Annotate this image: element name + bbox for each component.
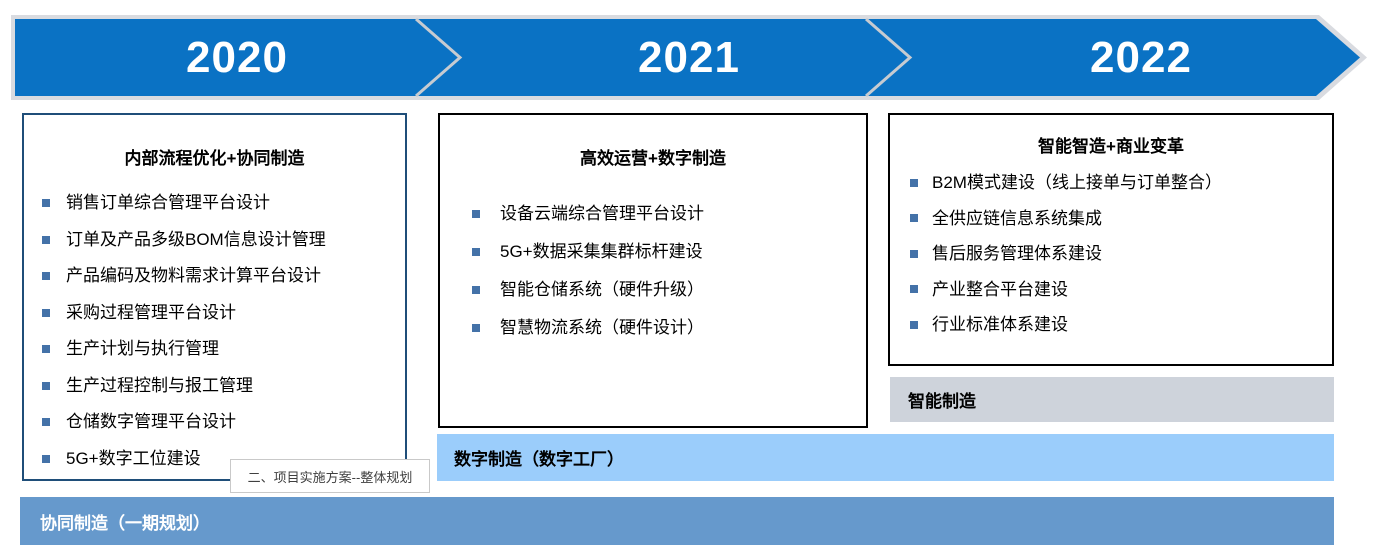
list-item-label: 设备云端综合管理平台设计 [500, 204, 704, 223]
bullet-square-icon [910, 285, 918, 293]
list-item-label: 全供应链信息系统集成 [932, 209, 1102, 228]
timeline-year-label: 2021 [638, 36, 740, 80]
phase-box-2022: 智能智造+商业变革 B2M模式建设（线上接单与订单整合） 全供应链信息系统集成 … [888, 113, 1334, 366]
list-item-label: 5G+数据采集集群标杆建设 [500, 242, 703, 261]
phase-item-list-2022: B2M模式建设（线上接单与订单整合） 全供应链信息系统集成 售后服务管理体系建设… [890, 165, 1332, 343]
bullet-square-icon [42, 418, 50, 426]
list-item: 产品编码及物料需求计算平台设计 [34, 258, 405, 295]
bullet-square-icon [42, 455, 50, 463]
timeline-segment-2020[interactable]: 2020 [11, 15, 463, 100]
band-label: 协同制造（一期规划） [40, 509, 210, 534]
timeline-banner: 2020 2021 2022 [11, 15, 1367, 100]
list-item-label: 5G+数字工位建设 [66, 449, 201, 468]
timeline-year-label: 2022 [1090, 36, 1192, 80]
list-item: B2M模式建设（线上接单与订单整合） [900, 165, 1332, 201]
list-item-label: 生产过程控制与报工管理 [66, 376, 253, 395]
list-item: 生产计划与执行管理 [34, 331, 405, 368]
list-item-label: B2M模式建设（线上接单与订单整合） [932, 173, 1222, 192]
phase-box-2021: 高效运营+数字制造 设备云端综合管理平台设计 5G+数据采集集群标杆建设 智能仓… [438, 113, 868, 428]
phase-item-list-2021: 设备云端综合管理平台设计 5G+数据采集集群标杆建设 智能仓储系统（硬件升级） … [440, 195, 866, 347]
band-intelligent-manufacturing: 智能制造 [890, 377, 1334, 422]
list-item: 行业标准体系建设 [900, 307, 1332, 343]
bullet-square-icon [472, 210, 480, 218]
list-item: 销售订单综合管理平台设计 [34, 185, 405, 222]
timeline-segment-2021[interactable]: 2021 [463, 15, 915, 100]
list-item-label: 产品编码及物料需求计算平台设计 [66, 266, 321, 285]
list-item: 产业整合平台建设 [900, 272, 1332, 308]
bullet-square-icon [42, 199, 50, 207]
list-item: 售后服务管理体系建设 [900, 236, 1332, 272]
timeline-year-label: 2020 [186, 36, 288, 80]
bullet-square-icon [42, 309, 50, 317]
phase-title-2021: 高效运营+数字制造 [440, 144, 866, 169]
list-item: 仓储数字管理平台设计 [34, 404, 405, 441]
list-item: 全供应链信息系统集成 [900, 201, 1332, 237]
bullet-square-icon [42, 272, 50, 280]
bullet-square-icon [42, 382, 50, 390]
list-item: 生产过程控制与报工管理 [34, 368, 405, 405]
list-item-label: 采购过程管理平台设计 [66, 303, 236, 322]
bullet-square-icon [472, 324, 480, 332]
bullet-square-icon [42, 345, 50, 353]
bullet-square-icon [910, 214, 918, 222]
list-item-label: 智慧物流系统（硬件设计） [500, 318, 704, 337]
phase-box-2020: 内部流程优化+协同制造 销售订单综合管理平台设计 订单及产品多级BOM信息设计管… [22, 113, 407, 481]
band-digital-manufacturing: 数字制造（数字工厂） [437, 434, 1334, 481]
list-item: 采购过程管理平台设计 [34, 295, 405, 332]
bullet-square-icon [910, 250, 918, 258]
list-item-label: 智能仓储系统（硬件升级） [500, 280, 704, 299]
list-item-label: 生产计划与执行管理 [66, 339, 219, 358]
phase-item-list-2020: 销售订单综合管理平台设计 订单及产品多级BOM信息设计管理 产品编码及物料需求计… [24, 185, 405, 477]
slide-caption-tooltip: 二、项目实施方案--整体规划 [230, 459, 430, 493]
timeline-segment-2022[interactable]: 2022 [915, 15, 1367, 100]
bullet-square-icon [42, 236, 50, 244]
list-item-label: 行业标准体系建设 [932, 315, 1068, 334]
bullet-square-icon [472, 286, 480, 294]
list-item: 订单及产品多级BOM信息设计管理 [34, 222, 405, 259]
slide-caption-text: 二、项目实施方案--整体规划 [248, 467, 413, 486]
list-item-label: 订单及产品多级BOM信息设计管理 [66, 230, 326, 249]
list-item: 设备云端综合管理平台设计 [468, 195, 866, 233]
band-label: 智能制造 [908, 387, 976, 412]
bullet-square-icon [472, 248, 480, 256]
list-item: 智能仓储系统（硬件升级） [468, 271, 866, 309]
list-item-label: 销售订单综合管理平台设计 [66, 193, 270, 212]
phase-title-2022: 智能智造+商业变革 [890, 132, 1332, 157]
phase-title-2020: 内部流程优化+协同制造 [24, 144, 405, 169]
band-collaborative-manufacturing: 协同制造（一期规划） [20, 497, 1334, 545]
band-label: 数字制造（数字工厂） [454, 445, 624, 470]
bullet-square-icon [910, 179, 918, 187]
bullet-square-icon [910, 321, 918, 329]
list-item: 智慧物流系统（硬件设计） [468, 309, 866, 347]
list-item-label: 售后服务管理体系建设 [932, 244, 1102, 263]
list-item-label: 仓储数字管理平台设计 [66, 412, 236, 431]
list-item: 5G+数据采集集群标杆建设 [468, 233, 866, 271]
timeline-year-row: 2020 2021 2022 [11, 15, 1367, 100]
list-item-label: 产业整合平台建设 [932, 280, 1068, 299]
